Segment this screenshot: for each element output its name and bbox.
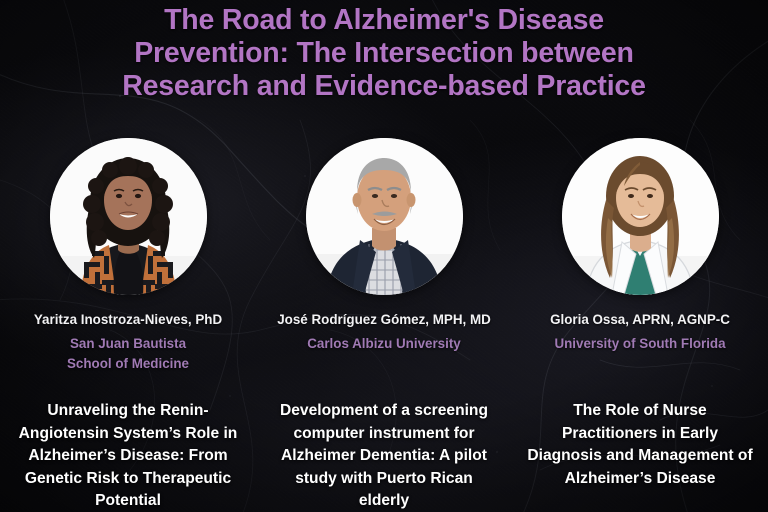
speaker-1-affiliation-line-1: San Juan Bautista [3,334,253,354]
portrait-illustration [50,138,207,295]
speaker-1-info: Yaritza Inostroza-Nieves, PhD San Juan B… [0,311,256,374]
speaker-photo-row [0,138,768,295]
poster-title: The Road to Alzheimer's Disease Preventi… [0,4,768,103]
portrait-illustration [562,138,719,295]
title-line-2: Prevention: The Intersection between [8,37,760,70]
title-line-3: Research and Evidence-based Practice [8,70,760,103]
talk-2-title: Development of a screening computer inst… [270,400,498,512]
title-line-1: The Road to Alzheimer's Disease [8,4,760,37]
speaker-1-affiliation-line-2: School of Medicine [3,354,253,374]
speaker-3-name: Gloria Ossa, APRN, AGNP-C [515,311,765,328]
avatar-gloria-ossa [562,138,719,295]
speaker-1-affiliation: San Juan Bautista School of Medicine [3,334,253,374]
talk-1-title: Unraveling the Renin-Angiotensin System’… [14,400,242,512]
speaker-2-affiliation-line-1: Carlos Albizu University [259,334,509,354]
speaker-3-affiliation: University of South Florida [515,334,765,354]
portrait-illustration [306,138,463,295]
speaker-1-name: Yaritza Inostroza-Nieves, PhD [3,311,253,328]
speaker-3-info: Gloria Ossa, APRN, AGNP-C University of … [512,311,768,374]
speaker-name-row: Yaritza Inostroza-Nieves, PhD San Juan B… [0,311,768,374]
talk-title-row: Unraveling the Renin-Angiotensin System’… [0,400,768,512]
speaker-2-affiliation: Carlos Albizu University [259,334,509,354]
talk-3: The Role of Nurse Practitioners in Early… [512,400,768,512]
speaker-2-name: José Rodríguez Gómez, MPH, MD [259,311,509,328]
talk-3-title: The Role of Nurse Practitioners in Early… [526,400,754,490]
speaker-1 [0,138,256,295]
avatar-yaritza-inostroza-nieves [50,138,207,295]
speaker-2-info: José Rodríguez Gómez, MPH, MD Carlos Alb… [256,311,512,374]
talk-1: Unraveling the Renin-Angiotensin System’… [0,400,256,512]
speaker-3 [512,138,768,295]
talk-2: Development of a screening computer inst… [256,400,512,512]
speaker-2 [256,138,512,295]
speaker-3-affiliation-line-1: University of South Florida [515,334,765,354]
conference-poster: The Road to Alzheimer's Disease Preventi… [0,0,768,512]
avatar-jose-rodriguez-gomez [306,138,463,295]
